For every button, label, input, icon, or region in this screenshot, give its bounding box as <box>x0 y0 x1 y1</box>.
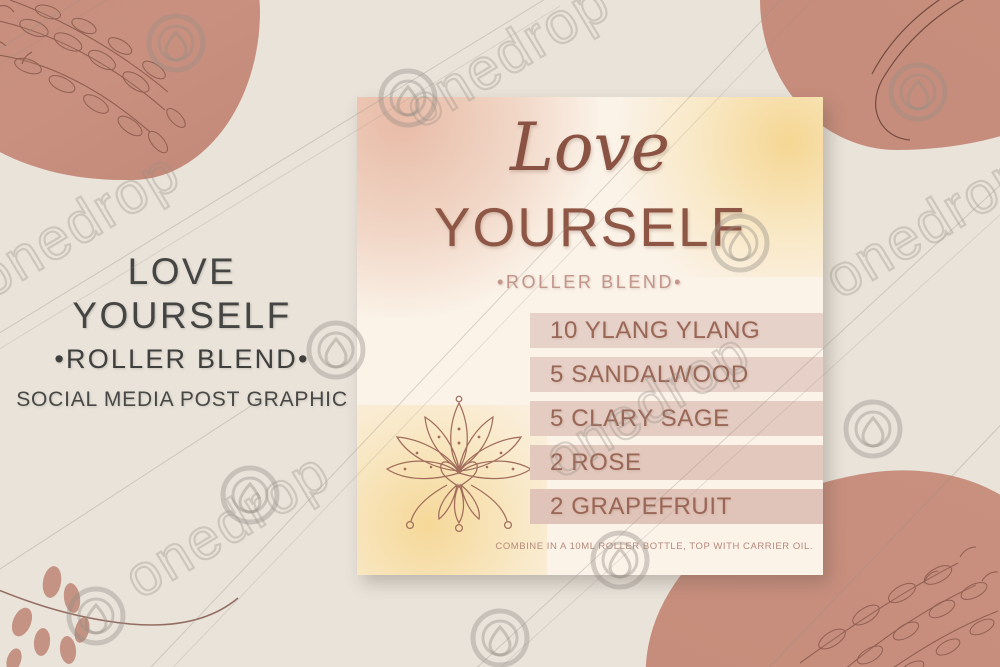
ingredient-row: 2 ROSE <box>530 445 823 480</box>
card-title-caps: YOURSELF <box>357 200 823 255</box>
ingredient-row: 2 GRAPEFRUIT <box>530 489 823 524</box>
lotus-flower-icon <box>379 385 539 535</box>
card-title-script: Love <box>357 115 823 181</box>
caption-line-love: LOVE <box>12 250 352 294</box>
ingredient-row: 5 CLARY SAGE <box>530 401 823 436</box>
poster-card-inner: Love YOURSELF •ROLLER BLEND• 10 YLANG YL… <box>357 97 823 575</box>
decor-blob-top-left <box>0 0 260 180</box>
card-footnote: COMBINE IN A 10ML ROLLER BOTTLE, TOP WIT… <box>357 541 813 552</box>
poster-card: Love YOURSELF •ROLLER BLEND• 10 YLANG YL… <box>357 97 823 575</box>
card-subtitle: •ROLLER BLEND• <box>357 272 823 293</box>
left-caption-panel: LOVE YOURSELF •ROLLER BLEND• SOCIAL MEDI… <box>12 250 352 412</box>
ingredient-row: 5 SANDALWOOD <box>530 357 823 392</box>
ingredient-row: 10 YLANG YLANG <box>530 313 823 348</box>
caption-line-yourself: YOURSELF <box>12 294 352 338</box>
poster-canvas: LOVE YOURSELF •ROLLER BLEND• SOCIAL MEDI… <box>0 0 1000 667</box>
caption-description: SOCIAL MEDIA POST GRAPHIC <box>12 388 352 412</box>
petal-sprig-icon-bottom-left <box>0 522 240 667</box>
caption-subtitle: •ROLLER BLEND• <box>12 344 352 375</box>
leaf-branch-icon-top-left <box>0 0 250 202</box>
ingredient-list: 10 YLANG YLANG 5 SANDALWOOD 5 CLARY SAGE… <box>530 313 823 533</box>
